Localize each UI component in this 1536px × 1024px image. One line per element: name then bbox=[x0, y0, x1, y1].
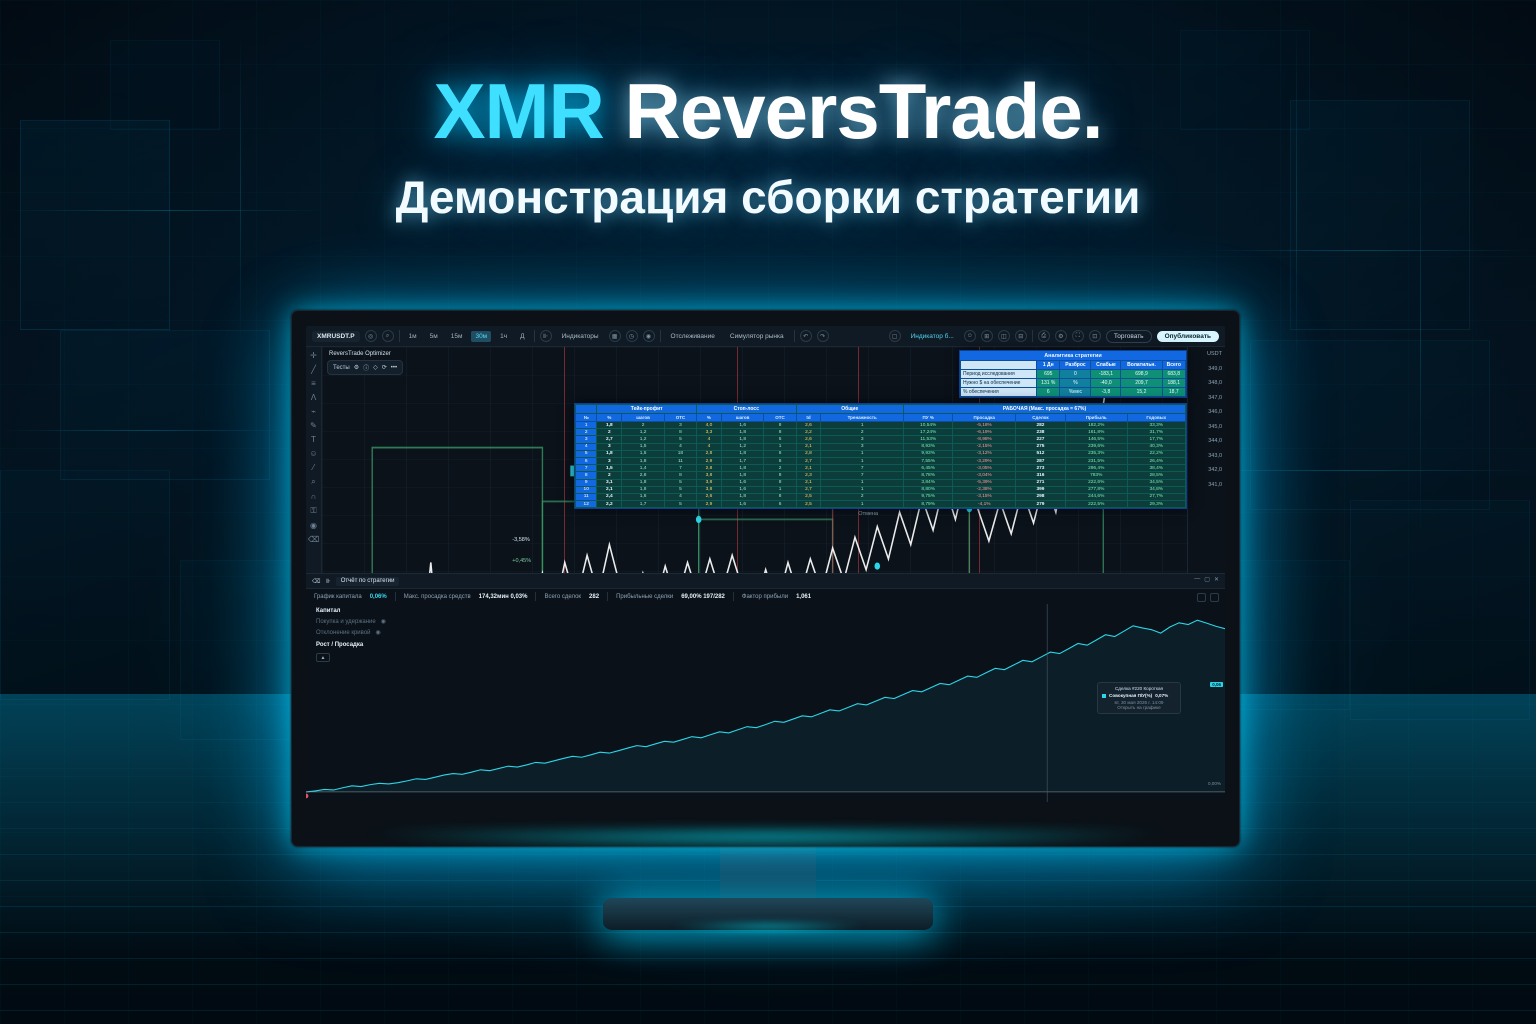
cell-td: 2,1 bbox=[796, 443, 821, 450]
cell-prof: 235,3% bbox=[1065, 450, 1127, 457]
stat-label-total-trades: Всего сделок bbox=[544, 594, 581, 600]
table-row[interactable]: 221,283,31,882,2217,24%-6,19%238161,8%31… bbox=[576, 429, 1186, 436]
equity-zero-label: 0,00% bbox=[1208, 781, 1221, 786]
cell-deals: 282 bbox=[1016, 422, 1066, 429]
col-head-1: 1 Дн bbox=[1037, 361, 1060, 370]
cell-slo: 6 bbox=[764, 457, 796, 464]
indicators-button[interactable]: Индикаторы bbox=[557, 331, 604, 342]
cell-dd: -3,12% bbox=[953, 450, 1016, 457]
cell-td: 2,6 bbox=[796, 422, 821, 429]
cell: 15,2 bbox=[1121, 388, 1162, 397]
stat-value-profit-factor: 1,061 bbox=[796, 594, 811, 600]
cell-dd: -3,15% bbox=[953, 493, 1016, 500]
grid-layout-icon[interactable]: ⊞ bbox=[981, 330, 993, 342]
timeframe-1h[interactable]: 1ч bbox=[496, 331, 511, 342]
cell: 698,9 bbox=[1121, 370, 1162, 379]
col-head-blank bbox=[961, 361, 1037, 370]
publish-button[interactable]: Опубликовать bbox=[1157, 331, 1219, 342]
cell-sl: 2,9 bbox=[697, 457, 722, 464]
cell-tr: 1 bbox=[821, 457, 904, 464]
col-head-2: Разброс bbox=[1060, 361, 1091, 370]
ruler-icon[interactable]: ⁄ bbox=[313, 463, 314, 472]
table-row[interactable]: 431,5441,212,138,93%-2,15%275239,6%40,3% bbox=[576, 443, 1186, 450]
cell-n: 8 bbox=[576, 472, 597, 479]
cell-year: 34,8% bbox=[1127, 486, 1185, 493]
timeframe-15m[interactable]: 15м bbox=[447, 331, 467, 342]
cell-tps: 1,6 bbox=[622, 493, 665, 500]
cell-slo: 8 bbox=[764, 422, 796, 429]
cell-sls: 1,7 bbox=[721, 457, 764, 464]
cell-td: 2,2 bbox=[796, 429, 821, 436]
cell-prof: 296,4% bbox=[1065, 465, 1127, 472]
cell-sl: 2,6 bbox=[697, 493, 722, 500]
cell-n: 7 bbox=[576, 465, 597, 472]
replay-button[interactable]: Отслеживание bbox=[666, 331, 720, 342]
price-tick: 346,0 bbox=[1188, 409, 1225, 424]
col-sl-pct: % bbox=[697, 414, 722, 422]
promo-banner: XMR ReversTrade. Демонстрация сборки стр… bbox=[0, 0, 1536, 1024]
price-unit: USDT bbox=[1188, 351, 1225, 366]
cursor-icon[interactable]: ✛ bbox=[310, 351, 317, 360]
simulator-button[interactable]: Симулятор рынка bbox=[725, 331, 789, 342]
fib-icon[interactable]: ≡ bbox=[311, 379, 316, 388]
table-row[interactable]: 32,71,2541,852,6311,53%-8,98%227146,5%17… bbox=[576, 436, 1186, 443]
cell-tr: 1 bbox=[821, 422, 904, 429]
trash-icon[interactable]: ⌫ bbox=[312, 578, 320, 585]
col-n: № bbox=[576, 414, 597, 422]
eye-icon[interactable]: ◉ bbox=[375, 629, 380, 636]
maximize-icon[interactable]: ▢ bbox=[1204, 576, 1210, 583]
legend-item-deviation[interactable]: Отклонение кривой ◉ bbox=[316, 629, 386, 636]
cell-tpo: 5 bbox=[664, 486, 696, 493]
cell: 683,8 bbox=[1162, 370, 1185, 379]
cell-prof: 239,6% bbox=[1065, 443, 1127, 450]
split-layout-icon[interactable]: ◫ bbox=[998, 330, 1010, 342]
gear-icon[interactable]: ⚙ bbox=[1055, 330, 1067, 342]
band-common: Общие bbox=[796, 405, 903, 414]
cell-dd: -3,05% bbox=[953, 465, 1016, 472]
price-tick: 343,0 bbox=[1188, 453, 1225, 468]
cell-year: 31,7% bbox=[1127, 429, 1185, 436]
cell-tps: 1,2 bbox=[622, 436, 665, 443]
brush-icon[interactable]: ✎ bbox=[310, 421, 317, 430]
cell-deals: 316 bbox=[1016, 472, 1066, 479]
cell-slo: 6 bbox=[764, 501, 796, 508]
search-icon[interactable]: ⌕ bbox=[382, 330, 394, 342]
cell-tpo: 5 bbox=[664, 479, 696, 486]
cell-tpo: 11 bbox=[664, 457, 696, 464]
divider bbox=[794, 330, 795, 342]
col-sl-ots: ОТС bbox=[764, 414, 796, 422]
monitor-stand-neck bbox=[720, 847, 816, 905]
cell-pu: 7,55% bbox=[903, 457, 953, 464]
report-icon[interactable]: ⊪ bbox=[325, 578, 330, 585]
cell-tp: 2,7 bbox=[597, 436, 622, 443]
collapse-icon[interactable]: ▲ bbox=[316, 653, 330, 662]
stat-value-drawdown: 174,32мин 0,03% bbox=[479, 594, 528, 600]
cell-deals: 298 bbox=[1016, 493, 1066, 500]
stat-value-total-trades: 282 bbox=[589, 594, 599, 600]
timeframe-1m[interactable]: 1м bbox=[405, 331, 421, 342]
table-row[interactable]: 11,8234,01,682,6110,54%-5,18%282182,2%33… bbox=[576, 422, 1186, 429]
col-profit: Прибыль bbox=[1065, 414, 1127, 422]
cell-year: 40,3% bbox=[1127, 443, 1185, 450]
cell-deals: 238 bbox=[1016, 429, 1066, 436]
cell-pu: 8,93% bbox=[903, 443, 953, 450]
cell-tp: 2 bbox=[597, 472, 622, 479]
cell: -40,0 bbox=[1091, 379, 1121, 388]
magnet-icon[interactable]: ∩ bbox=[311, 492, 317, 501]
table-row[interactable]: 102,11,853,81,612,718,80%-2,38%399277,8%… bbox=[576, 486, 1186, 493]
cell-deals: 512 bbox=[1016, 450, 1066, 457]
cell: 18,7 bbox=[1162, 388, 1185, 397]
cell-pu: 8,80% bbox=[903, 486, 953, 493]
legend-label: Отклонение кривой bbox=[316, 630, 370, 636]
legend-label: Покупка и удержание bbox=[316, 619, 376, 625]
cell-sls: 1,6 bbox=[721, 486, 764, 493]
tooltip-sub2[interactable]: Открыть на графике bbox=[1102, 705, 1176, 710]
cell-tps: 1,5 bbox=[622, 443, 665, 450]
divider bbox=[660, 330, 661, 342]
tooltip-title: Сделка #220 Короткая bbox=[1102, 686, 1176, 691]
cell-sl: 4,0 bbox=[697, 422, 722, 429]
cell-slo: 1 bbox=[764, 443, 796, 450]
compare-icon[interactable]: ◎ bbox=[365, 330, 377, 342]
row-label: Период исследования bbox=[961, 370, 1037, 379]
cell-n: 4 bbox=[576, 443, 597, 450]
zoom-icon[interactable]: ⌕ bbox=[311, 477, 315, 487]
cell-n: 2 bbox=[576, 429, 597, 436]
equity-pct-badge: 0,06 bbox=[1210, 682, 1223, 687]
table-header-row: 1 Дн Разброс Слабые Волатильн. Всего bbox=[961, 361, 1186, 370]
col-tr: Тренажность bbox=[821, 414, 904, 422]
cell-dd: -3,29% bbox=[953, 457, 1016, 464]
cell-dd: -5,18% bbox=[953, 422, 1016, 429]
cell-sls: 1,8 bbox=[721, 436, 764, 443]
user-icon[interactable]: ☺ bbox=[964, 330, 976, 342]
cell-tps: 2,8 bbox=[622, 472, 665, 479]
col-td: td bbox=[796, 414, 821, 422]
cell-prof: 244,6% bbox=[1065, 493, 1127, 500]
cell-sl: 4 bbox=[697, 436, 722, 443]
timeframe-30m[interactable]: 30м bbox=[471, 331, 491, 342]
text-icon[interactable]: T bbox=[311, 435, 316, 444]
cell-sl: 3,8 bbox=[697, 486, 722, 493]
optimizer-results-table[interactable]: Тейк-профит Стоп-лосс Общие РАБОЧАЯ (Мак… bbox=[574, 403, 1187, 509]
cell-sl: 2,8 bbox=[697, 450, 722, 457]
report-stats: График капитала 0,06% Макс. просадка сре… bbox=[306, 589, 1225, 604]
timeframe-d[interactable]: Д bbox=[516, 331, 528, 342]
cell-tr: 3 bbox=[821, 443, 904, 450]
trade-tooltip: Сделка #220 Короткая Совокупная П/У(%) 0… bbox=[1097, 682, 1181, 714]
cell: 209,7 bbox=[1121, 379, 1162, 388]
cell-n: 6 bbox=[576, 457, 597, 464]
strategy-report-panel: ⌫ ⊪ Отчёт по стратегии — ▢ ✕ График капи… bbox=[306, 573, 1225, 802]
quad-layout-icon[interactable]: ⊟ bbox=[1015, 330, 1027, 342]
equity-chart[interactable]: 0,06 0,00% bbox=[306, 604, 1225, 802]
table-row[interactable]: 51,81,5182,81,862,819,93%-3,12%512235,3%… bbox=[576, 450, 1186, 457]
cell-pu: 10,54% bbox=[903, 422, 953, 429]
tab-strategy-report[interactable]: Отчёт по стратегии bbox=[336, 577, 400, 586]
cell-sl: 2,8 bbox=[697, 465, 722, 472]
cell-tpo: 4 bbox=[664, 493, 696, 500]
table-row: Период исследования 695 0 -183,1 698,9 6… bbox=[961, 370, 1186, 379]
stat-label-drawdown: Макс. просадка средств bbox=[404, 594, 471, 600]
cell-n: 9 bbox=[576, 479, 597, 486]
cell-tp: 3 bbox=[597, 457, 622, 464]
cell-tps: 1,8 bbox=[622, 486, 665, 493]
cell-n: 3 bbox=[576, 436, 597, 443]
table-row[interactable]: 112,41,642,61,882,529,75%-3,15%298244,6%… bbox=[576, 493, 1186, 500]
cell: 695 bbox=[1037, 370, 1060, 379]
cell-sls: 1,8 bbox=[721, 465, 764, 472]
cell-n: 12 bbox=[576, 501, 597, 508]
optimizer-rows: 11,8234,01,682,6110,54%-5,18%282182,2%33… bbox=[576, 422, 1186, 508]
cell-year: 28,5% bbox=[1127, 472, 1185, 479]
col-head-4: Волатильн. bbox=[1121, 361, 1162, 370]
table-row[interactable]: 631,8112,91,762,717,55%-3,29%287231,5%26… bbox=[576, 457, 1186, 464]
cell: 6 bbox=[1037, 388, 1060, 397]
cell-pu: 17,24% bbox=[903, 429, 953, 436]
band-row: Тейк-профит Стоп-лосс Общие РАБОЧАЯ (Мак… bbox=[576, 405, 1186, 414]
cell-tps: 1,8 bbox=[622, 457, 665, 464]
cell-sls: 1,8 bbox=[721, 472, 764, 479]
cell-td: 2,5 bbox=[796, 501, 821, 508]
cell-tp: 3 bbox=[597, 443, 622, 450]
prediction-icon[interactable]: ⌁ bbox=[311, 407, 316, 416]
camera-icon[interactable]: ⎙ bbox=[1038, 330, 1050, 342]
cell: 131 % bbox=[1037, 379, 1060, 388]
cell-tpo: 18 bbox=[664, 450, 696, 457]
cell-deals: 279 bbox=[1016, 501, 1066, 508]
replay-label: Отслеживание bbox=[671, 333, 715, 340]
divider bbox=[1032, 330, 1033, 342]
col-deals: Сделок bbox=[1016, 414, 1066, 422]
cell-sls: 1,8 bbox=[721, 450, 764, 457]
alert-icon[interactable]: ◷ bbox=[626, 330, 638, 342]
cell-td: 2,7 bbox=[796, 486, 821, 493]
table-header-row: № % шагов ОТС % шагов ОТС td Тренажность bbox=[576, 414, 1186, 422]
trading-app: XMRUSDT.P ◎ ⌕ 1м 5м 15м 30м 1ч Д ⊪ Индик… bbox=[306, 326, 1225, 802]
cell-deals: 399 bbox=[1016, 486, 1066, 493]
cell-pu: 11,53% bbox=[903, 436, 953, 443]
symbol-selector[interactable]: XMRUSDT.P bbox=[312, 331, 360, 342]
cell-prof: 182,2% bbox=[1065, 422, 1127, 429]
cell-tpo: 4 bbox=[664, 443, 696, 450]
cell-prof: 783% bbox=[1065, 472, 1127, 479]
layout-icon[interactable]: ▢ bbox=[889, 330, 901, 342]
cell-prof: 231,5% bbox=[1065, 457, 1127, 464]
cell-tpo: 5 bbox=[664, 501, 696, 508]
emoji-icon[interactable]: ☺ bbox=[309, 449, 317, 458]
band-stoploss: Стоп-лосс bbox=[697, 405, 797, 414]
cell-tps: 1,8 bbox=[622, 479, 665, 486]
title-main: ReversTrade. bbox=[625, 67, 1103, 155]
legend-title-2: Рост / Просадка bbox=[316, 642, 386, 648]
analytics-table-title: Аналитика стратегии bbox=[960, 351, 1186, 360]
cell-pu: 9,75% bbox=[903, 493, 953, 500]
report-tabs: ⌫ ⊪ Отчёт по стратегии — ▢ ✕ bbox=[306, 574, 1225, 589]
cell-tps: 1,4 bbox=[622, 465, 665, 472]
analytics-table[interactable]: Аналитика стратегии 1 Дн Разброс Слабые … bbox=[959, 350, 1187, 398]
cell-tp: 1,8 bbox=[597, 422, 622, 429]
divider bbox=[399, 330, 400, 342]
cell-year: 26,4% bbox=[1127, 457, 1185, 464]
cell-prof: 222,6% bbox=[1065, 479, 1127, 486]
table-row: Нужно $ на обеспечение 131 % % -40,0 209… bbox=[961, 379, 1186, 388]
col-tp-ots: ОТС bbox=[664, 414, 696, 422]
replay-icon[interactable]: ◉ bbox=[643, 330, 655, 342]
cell: %мес bbox=[1060, 388, 1091, 397]
expand-icon[interactable] bbox=[1210, 593, 1219, 602]
redo-icon[interactable]: ↷ bbox=[817, 330, 829, 342]
cell-tps: 2 bbox=[622, 422, 665, 429]
cell-tpo: 7 bbox=[664, 465, 696, 472]
cell-td: 2,3 bbox=[796, 472, 821, 479]
cell-year: 33,3% bbox=[1127, 422, 1185, 429]
table-row[interactable]: 71,51,472,81,822,176,45%-3,05%273296,4%3… bbox=[576, 465, 1186, 472]
cell-pu: 6,45% bbox=[903, 465, 953, 472]
hero-title-block: XMR ReversTrade. Демонстрация сборки стр… bbox=[0, 72, 1536, 224]
cell: -183,1 bbox=[1091, 370, 1121, 379]
cell-tr: 2 bbox=[821, 429, 904, 436]
row-label: % обеспечения bbox=[961, 388, 1037, 397]
app-toolbar: XMRUSDT.P ◎ ⌕ 1м 5м 15м 30м 1ч Д ⊪ Индик… bbox=[306, 326, 1225, 347]
monitor-frame: XMRUSDT.P ◎ ⌕ 1м 5м 15м 30м 1ч Д ⊪ Индик… bbox=[291, 310, 1240, 847]
cell-tr: 1 bbox=[821, 486, 904, 493]
minimize-icon[interactable]: — bbox=[1194, 576, 1200, 583]
stat-value-equity: 0,06% bbox=[370, 594, 387, 600]
templates-icon[interactable]: ▦ bbox=[609, 330, 621, 342]
cell-n: 10 bbox=[576, 486, 597, 493]
cell-slo: 8 bbox=[764, 479, 796, 486]
cell-pu: 9,93% bbox=[903, 450, 953, 457]
eye-icon[interactable]: ◉ bbox=[310, 521, 317, 530]
cell-tr: 2 bbox=[821, 493, 904, 500]
cell-slo: 6 bbox=[764, 450, 796, 457]
title-accent: XMR bbox=[434, 67, 604, 155]
cell-tps: 1,5 bbox=[622, 450, 665, 457]
cell-year: 27,7% bbox=[1127, 493, 1185, 500]
col-pu: ПУ % bbox=[903, 414, 953, 422]
cell-sls: 1,2 bbox=[721, 443, 764, 450]
tooltip-metric: Совокупная П/У(%) bbox=[1109, 693, 1152, 698]
annotation-3-sub: Отмена bbox=[858, 511, 878, 517]
cell-pu: 8,79% bbox=[903, 501, 953, 508]
cell-sls: 1,8 bbox=[721, 429, 764, 436]
trade-button[interactable]: Торговать bbox=[1106, 330, 1152, 343]
settings-icon[interactable] bbox=[1197, 593, 1206, 602]
trendline-icon[interactable]: ╱ bbox=[311, 365, 316, 374]
col-year: Годовых bbox=[1127, 414, 1185, 422]
cell-sl: 4 bbox=[697, 443, 722, 450]
cell-tps: 1,7 bbox=[622, 501, 665, 508]
cell-sl: 3,8 bbox=[697, 479, 722, 486]
tooltip-metric-row: Совокупная П/У(%) 0,07% bbox=[1102, 693, 1176, 698]
cell-tpo: 8 bbox=[664, 472, 696, 479]
cell-n: 1 bbox=[576, 422, 597, 429]
indicator-dropdown-label: Индикатор б... bbox=[911, 333, 954, 340]
cell-deals: 227 bbox=[1016, 436, 1066, 443]
cell-tp: 2 bbox=[597, 429, 622, 436]
simulator-label: Симулятор рынка bbox=[730, 333, 784, 340]
cell-deals: 271 bbox=[1016, 479, 1066, 486]
cell-deals: 273 bbox=[1016, 465, 1066, 472]
stat-label-profit-factor: Фактор прибыли bbox=[742, 594, 788, 600]
cell-dd: -2,38% bbox=[953, 486, 1016, 493]
table-row[interactable]: 822,883,81,882,378,78%-3,04%316783%28,5% bbox=[576, 472, 1186, 479]
timeframe-5m[interactable]: 5м bbox=[426, 331, 442, 342]
price-tick: 342,0 bbox=[1188, 467, 1225, 482]
row-label: Нужно $ на обеспечение bbox=[961, 379, 1037, 388]
cell-td: 2,6 bbox=[796, 436, 821, 443]
cell-td: 2,1 bbox=[796, 479, 821, 486]
table-row: % обеспечения 6 %мес -3,8 15,2 18,7 bbox=[961, 388, 1186, 397]
cell-tpo: 8 bbox=[664, 429, 696, 436]
lock-icon[interactable]: ⚿ bbox=[310, 506, 316, 516]
cell-td: 2,1 bbox=[796, 465, 821, 472]
equity-curve-svg bbox=[306, 604, 1225, 802]
col-tp-pct: % bbox=[597, 414, 622, 422]
cell: -3,8 bbox=[1091, 388, 1121, 397]
table-row[interactable]: 122,21,752,91,662,518,79%-4,1%279222,5%2… bbox=[576, 501, 1186, 508]
annotation-1-sub: +0,45% bbox=[512, 558, 531, 564]
cell-slo: 8 bbox=[764, 472, 796, 479]
stat-value-profitable: 69,00% 197/282 bbox=[681, 594, 725, 600]
pattern-icon[interactable]: Ʌ bbox=[311, 393, 316, 402]
cell-td: 2,5 bbox=[796, 493, 821, 500]
eye-icon[interactable]: ◉ bbox=[381, 618, 386, 625]
cell-dd: -4,1% bbox=[953, 501, 1016, 508]
cell-tp: 3,1 bbox=[597, 479, 622, 486]
cell-sls: 1,6 bbox=[721, 501, 764, 508]
col-tp-steps: шагов bbox=[622, 414, 665, 422]
legend-title: Капитал bbox=[316, 608, 386, 614]
cell-dd: -8,98% bbox=[953, 436, 1016, 443]
cell-dd: -3,04% bbox=[953, 472, 1016, 479]
snapshot-icon[interactable]: ⊡ bbox=[1089, 330, 1101, 342]
cell-tr: 1 bbox=[821, 479, 904, 486]
cell-tp: 2,1 bbox=[597, 486, 622, 493]
cell-tpo: 3 bbox=[664, 422, 696, 429]
indicator-dropdown[interactable]: Индикатор б... bbox=[906, 331, 959, 342]
price-tick: 341,0 bbox=[1188, 482, 1225, 497]
cell-tr: 1 bbox=[821, 450, 904, 457]
cell-dd: -2,15% bbox=[953, 443, 1016, 450]
price-tick: 344,0 bbox=[1188, 438, 1225, 453]
monitor-stand-base bbox=[603, 898, 933, 930]
cell-prof: 277,8% bbox=[1065, 486, 1127, 493]
trash-icon[interactable]: ⌫ bbox=[308, 535, 319, 544]
undo-icon[interactable]: ↶ bbox=[800, 330, 812, 342]
cell-sl: 2,9 bbox=[697, 501, 722, 508]
cell-sls: 1,8 bbox=[721, 493, 764, 500]
cell-tpo: 5 bbox=[664, 436, 696, 443]
candles-icon[interactable]: ⊪ bbox=[540, 330, 552, 342]
table-row[interactable]: 93,11,853,81,682,113,84%-5,39%271222,6%3… bbox=[576, 479, 1186, 486]
fullscreen-icon[interactable]: ⛶ bbox=[1072, 330, 1084, 342]
band-takeprofit: Тейк-профит bbox=[597, 405, 697, 414]
cell-year: 17,7% bbox=[1127, 436, 1185, 443]
legend-swatch bbox=[1102, 694, 1106, 698]
cell-tr: 3 bbox=[821, 436, 904, 443]
cell-sls: 1,6 bbox=[721, 479, 764, 486]
legend-item-buyhold[interactable]: Покупка и удержание ◉ bbox=[316, 618, 386, 625]
col-dd: Просадка bbox=[953, 414, 1016, 422]
cell-n: 5 bbox=[576, 450, 597, 457]
cell-tr: 7 bbox=[821, 472, 904, 479]
close-icon[interactable]: ✕ bbox=[1214, 576, 1219, 583]
